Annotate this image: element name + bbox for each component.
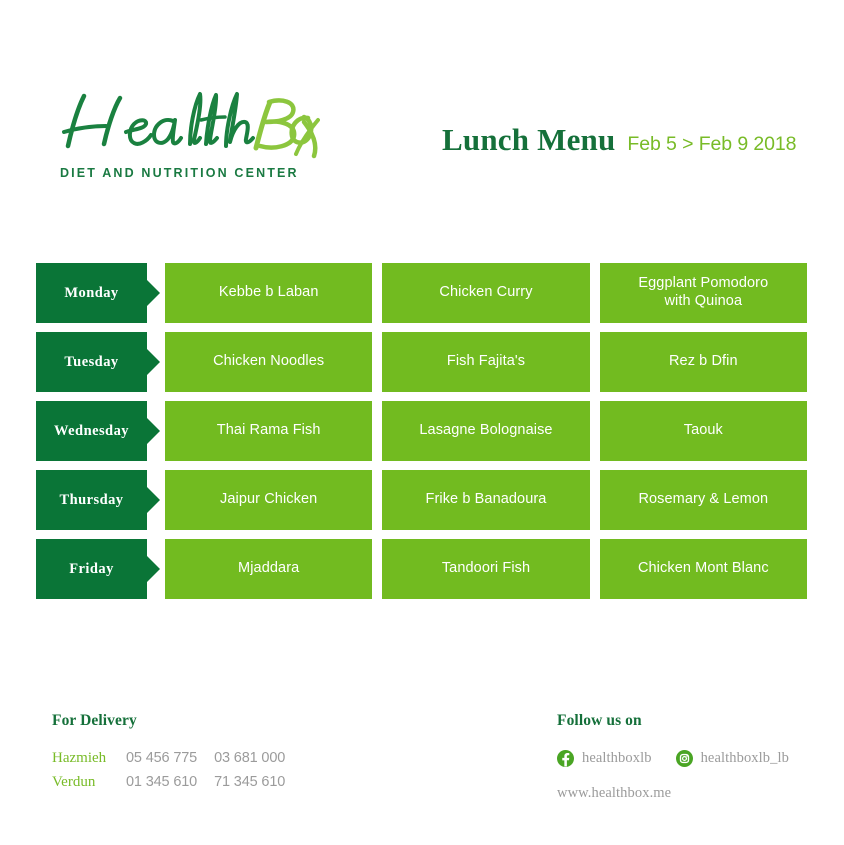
day-label: Thursday: [59, 492, 123, 509]
delivery-section: For Delivery Hazmieh05 456 77503 681 000…: [52, 712, 482, 798]
social-handle: healthboxlb_lb: [701, 750, 789, 767]
dish-cell: Lasagne Bolognaise: [382, 401, 589, 461]
dish-cell: Chicken Noodles: [165, 332, 372, 392]
dish-name: Rosemary & Lemon: [638, 491, 768, 509]
dish-cell: Taouk: [600, 401, 807, 461]
page-header: DIET AND NUTRITION CENTER Lunch Menu Feb…: [0, 0, 844, 250]
chevron-right-icon: [147, 556, 160, 582]
chevron-right-icon: [147, 280, 160, 306]
social-heading: Follow us on: [557, 712, 837, 730]
dish-name: Kebbe b Laban: [219, 284, 319, 302]
instagram-icon: [676, 750, 693, 767]
delivery-area-name: Hazmieh: [52, 750, 126, 767]
dish-name: Jaipur Chicken: [220, 491, 317, 509]
menu-row: TuesdayChicken NoodlesFish Fajita'sRez b…: [36, 332, 807, 392]
dish-name: Fish Fajita's: [447, 353, 525, 371]
dish-cell: Tandoori Fish: [382, 539, 589, 599]
social-accounts: healthboxlbhealthboxlb_lb: [557, 750, 837, 767]
dish-cell: Kebbe b Laban: [165, 263, 372, 323]
day-chip-friday: Friday: [36, 539, 147, 599]
menu-row: ThursdayJaipur ChickenFrike b BanadouraR…: [36, 470, 807, 530]
day-chip-monday: Monday: [36, 263, 147, 323]
dish-cell: Eggplant Pomodorowith Quinoa: [600, 263, 807, 323]
dish-name: Mjaddara: [238, 560, 299, 578]
dish-name: Chicken Curry: [439, 284, 532, 302]
dish-name: Lasagne Bolognaise: [419, 422, 552, 440]
dish-cell: Fish Fajita's: [382, 332, 589, 392]
dish-cell: Chicken Mont Blanc: [600, 539, 807, 599]
dish-name: Taouk: [684, 422, 723, 440]
delivery-heading: For Delivery: [52, 712, 482, 730]
dish-name: Frike b Banadoura: [425, 491, 546, 509]
menu-row: FridayMjaddaraTandoori FishChicken Mont …: [36, 539, 807, 599]
menu-title-block: Lunch Menu Feb 5 > Feb 9 2018: [442, 122, 796, 158]
delivery-row: Hazmieh05 456 77503 681 000: [52, 750, 482, 767]
dish-cell: Frike b Banadoura: [382, 470, 589, 530]
dish-cell: Thai Rama Fish: [165, 401, 372, 461]
dish-name: Rez b Dfin: [669, 353, 738, 371]
delivery-phone[interactable]: 71 345 610: [214, 774, 285, 790]
social-account-facebook[interactable]: healthboxlb: [557, 750, 652, 767]
menu-row: WednesdayThai Rama FishLasagne Bolognais…: [36, 401, 807, 461]
menu-row: MondayKebbe b LabanChicken CurryEggplant…: [36, 263, 807, 323]
dish-cell: Rosemary & Lemon: [600, 470, 807, 530]
healthbox-logo-icon: [60, 88, 320, 160]
menu-date-range: Feb 5 > Feb 9 2018: [627, 133, 796, 156]
page-footer: For Delivery Hazmieh05 456 77503 681 000…: [0, 700, 844, 845]
dish-cell: Mjaddara: [165, 539, 372, 599]
logo-tagline: DIET AND NUTRITION CENTER: [60, 166, 360, 180]
page-title: Lunch Menu: [442, 122, 615, 158]
chevron-right-icon: [147, 487, 160, 513]
chevron-right-icon: [147, 349, 160, 375]
dish-name: Chicken Noodles: [213, 353, 324, 371]
social-handle: healthboxlb: [582, 750, 652, 767]
dish-cell: Rez b Dfin: [600, 332, 807, 392]
day-chip-wednesday: Wednesday: [36, 401, 147, 461]
dish-cell: Jaipur Chicken: [165, 470, 372, 530]
facebook-icon: [557, 750, 574, 767]
dish-name: Eggplant Pomodorowith Quinoa: [638, 275, 768, 310]
social-account-instagram[interactable]: healthboxlb_lb: [676, 750, 789, 767]
chevron-right-icon: [147, 418, 160, 444]
delivery-list: Hazmieh05 456 77503 681 000Verdun01 345 …: [52, 750, 482, 791]
social-section: Follow us on healthboxlbhealthboxlb_lb w…: [557, 712, 837, 802]
delivery-phone[interactable]: 01 345 610: [126, 774, 197, 790]
day-chip-tuesday: Tuesday: [36, 332, 147, 392]
dish-name: Thai Rama Fish: [217, 422, 321, 440]
dish-name: Chicken Mont Blanc: [638, 560, 769, 578]
brand-logo: DIET AND NUTRITION CENTER: [60, 88, 360, 180]
delivery-phone[interactable]: 05 456 775: [126, 750, 197, 766]
delivery-phone[interactable]: 03 681 000: [214, 750, 285, 766]
delivery-area-name: Verdun: [52, 774, 126, 791]
menu-grid: MondayKebbe b LabanChicken CurryEggplant…: [36, 263, 807, 599]
dish-name: Tandoori Fish: [442, 560, 530, 578]
lunch-menu-page: DIET AND NUTRITION CENTER Lunch Menu Feb…: [0, 0, 844, 845]
day-chip-thursday: Thursday: [36, 470, 147, 530]
day-label: Monday: [64, 285, 118, 302]
day-label: Tuesday: [64, 354, 118, 371]
day-label: Wednesday: [54, 423, 129, 440]
website-link[interactable]: www.healthbox.me: [557, 785, 837, 802]
delivery-row: Verdun01 345 61071 345 610: [52, 774, 482, 791]
dish-cell: Chicken Curry: [382, 263, 589, 323]
logo-wordmark: [60, 88, 320, 160]
day-label: Friday: [69, 561, 114, 578]
